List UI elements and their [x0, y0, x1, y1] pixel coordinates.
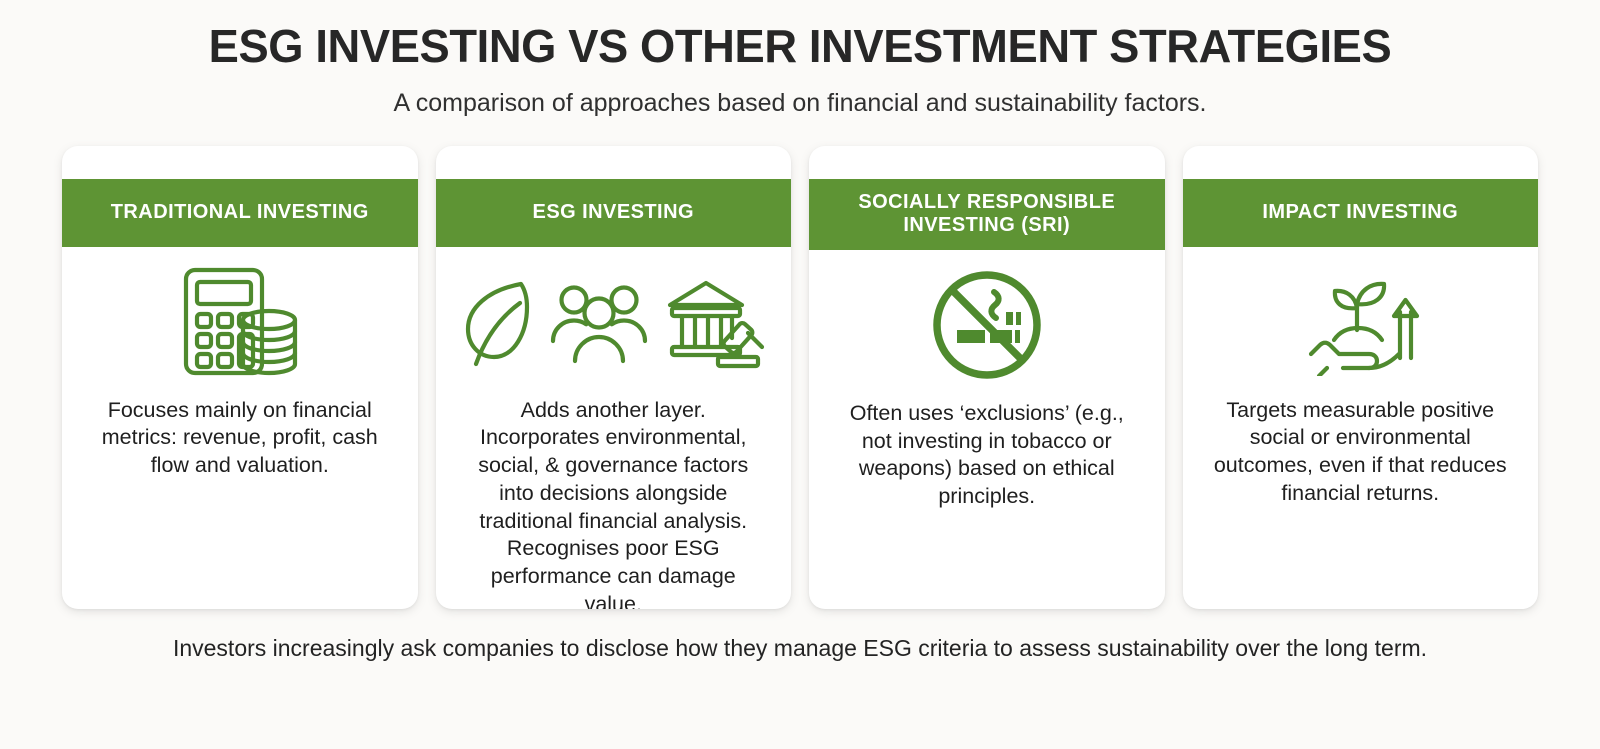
icon-zone-esg: [454, 247, 774, 397]
hand-sprout-growth-icon: [1299, 268, 1421, 376]
card-title-esg: ESG INVESTING: [436, 179, 792, 247]
icon-zone-sri: [827, 250, 1147, 400]
card-body-sri: Often uses ‘exclusions’ (e.g., not inves…: [809, 250, 1165, 609]
calculator-coins-icon: [180, 264, 300, 379]
strategy-cards-row: TRADITIONAL INVESTING: [0, 146, 1600, 609]
card-body-esg: Adds another layer. Incorporates environ…: [436, 247, 792, 609]
card-impact-investing[interactable]: IMPACT INVESTING: [1183, 146, 1539, 609]
icon-zone-traditional: [80, 247, 400, 397]
card-text-sri: Often uses ‘exclusions’ (e.g., not inves…: [827, 400, 1147, 511]
card-socially-responsible-investing[interactable]: SOCIALLY RESPONSIBLE INVESTING (SRI): [809, 146, 1165, 609]
infographic-page: ESG INVESTING VS OTHER INVESTMENT STRATE…: [0, 0, 1600, 749]
header-section: ESG INVESTING VS OTHER INVESTMENT STRATE…: [0, 0, 1600, 118]
no-smoking-icon: [930, 268, 1044, 382]
card-title-sri: SOCIALLY RESPONSIBLE INVESTING (SRI): [809, 179, 1165, 250]
leaf-icon: [460, 276, 536, 368]
people-group-icon: [550, 279, 648, 365]
page-title: ESG INVESTING VS OTHER INVESTMENT STRATE…: [12, 22, 1588, 72]
card-body-impact: Targets measurable positive social or en…: [1183, 247, 1539, 609]
card-text-impact: Targets measurable positive social or en…: [1201, 397, 1521, 508]
card-text-esg: Adds another layer. Incorporates environ…: [454, 397, 774, 609]
page-subtitle: A comparison of approaches based on fina…: [0, 88, 1600, 118]
card-title-traditional: TRADITIONAL INVESTING: [62, 179, 418, 247]
card-body-traditional: Focuses mainly on financial metrics: rev…: [62, 247, 418, 609]
card-traditional-investing[interactable]: TRADITIONAL INVESTING: [62, 146, 418, 609]
footer-note: Investors increasingly ask companies to …: [0, 635, 1600, 662]
card-esg-investing[interactable]: ESG INVESTING: [436, 146, 792, 609]
card-text-traditional: Focuses mainly on financial metrics: rev…: [80, 397, 400, 480]
icon-zone-impact: [1201, 247, 1521, 397]
card-title-impact: IMPACT INVESTING: [1183, 179, 1539, 247]
bank-gavel-icon: [662, 275, 766, 369]
